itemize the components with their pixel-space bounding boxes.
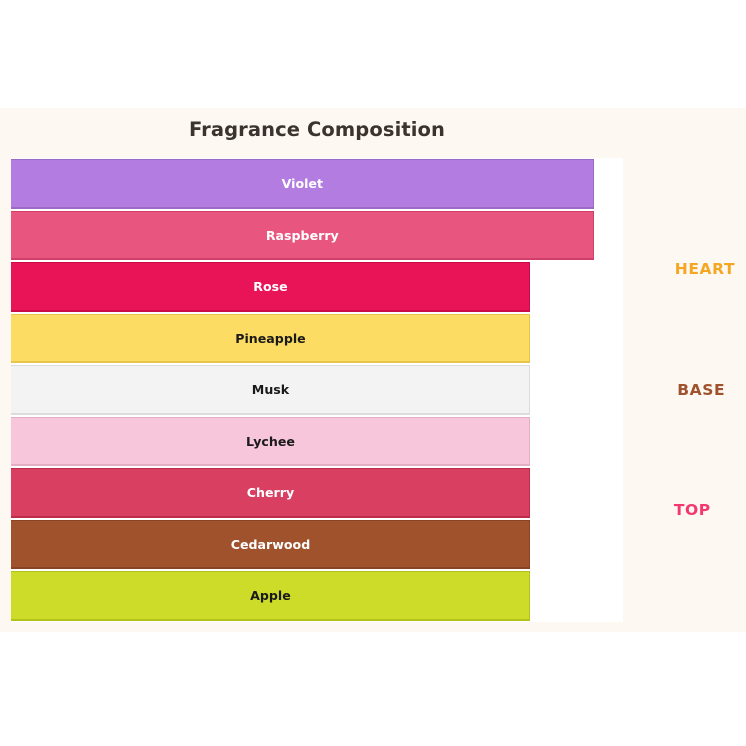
stage-label-heart: HEART — [675, 260, 735, 278]
stage-label-base: BASE — [677, 381, 725, 399]
bar-row: Pineapple — [11, 313, 623, 365]
bar-cherry[interactable] — [11, 468, 530, 518]
bar-cedarwood[interactable] — [11, 520, 530, 570]
bar-row: Musk — [11, 364, 623, 416]
plot-area: VioletRaspberryRosePineappleMuskLycheeCh… — [11, 158, 623, 622]
bar-row: Violet — [11, 158, 623, 210]
bar-apple[interactable] — [11, 571, 530, 621]
bar-violet[interactable] — [11, 159, 594, 209]
chart-figure: Fragrance Composition VioletRaspberryRos… — [0, 108, 746, 632]
bar-row: Rose — [11, 261, 623, 313]
bar-raspberry[interactable] — [11, 211, 594, 261]
page-title: Fragrance Composition — [0, 118, 634, 141]
bar-musk[interactable] — [11, 365, 530, 415]
stage-label-top: TOP — [674, 501, 711, 519]
bar-row: Raspberry — [11, 210, 623, 262]
bar-row: Cedarwood — [11, 519, 623, 571]
bar-row: Cherry — [11, 467, 623, 519]
bar-rose[interactable] — [11, 262, 530, 312]
bar-row: Apple — [11, 570, 623, 622]
bar-pineapple[interactable] — [11, 314, 530, 364]
bar-lychee[interactable] — [11, 417, 530, 467]
bar-row: Lychee — [11, 416, 623, 468]
